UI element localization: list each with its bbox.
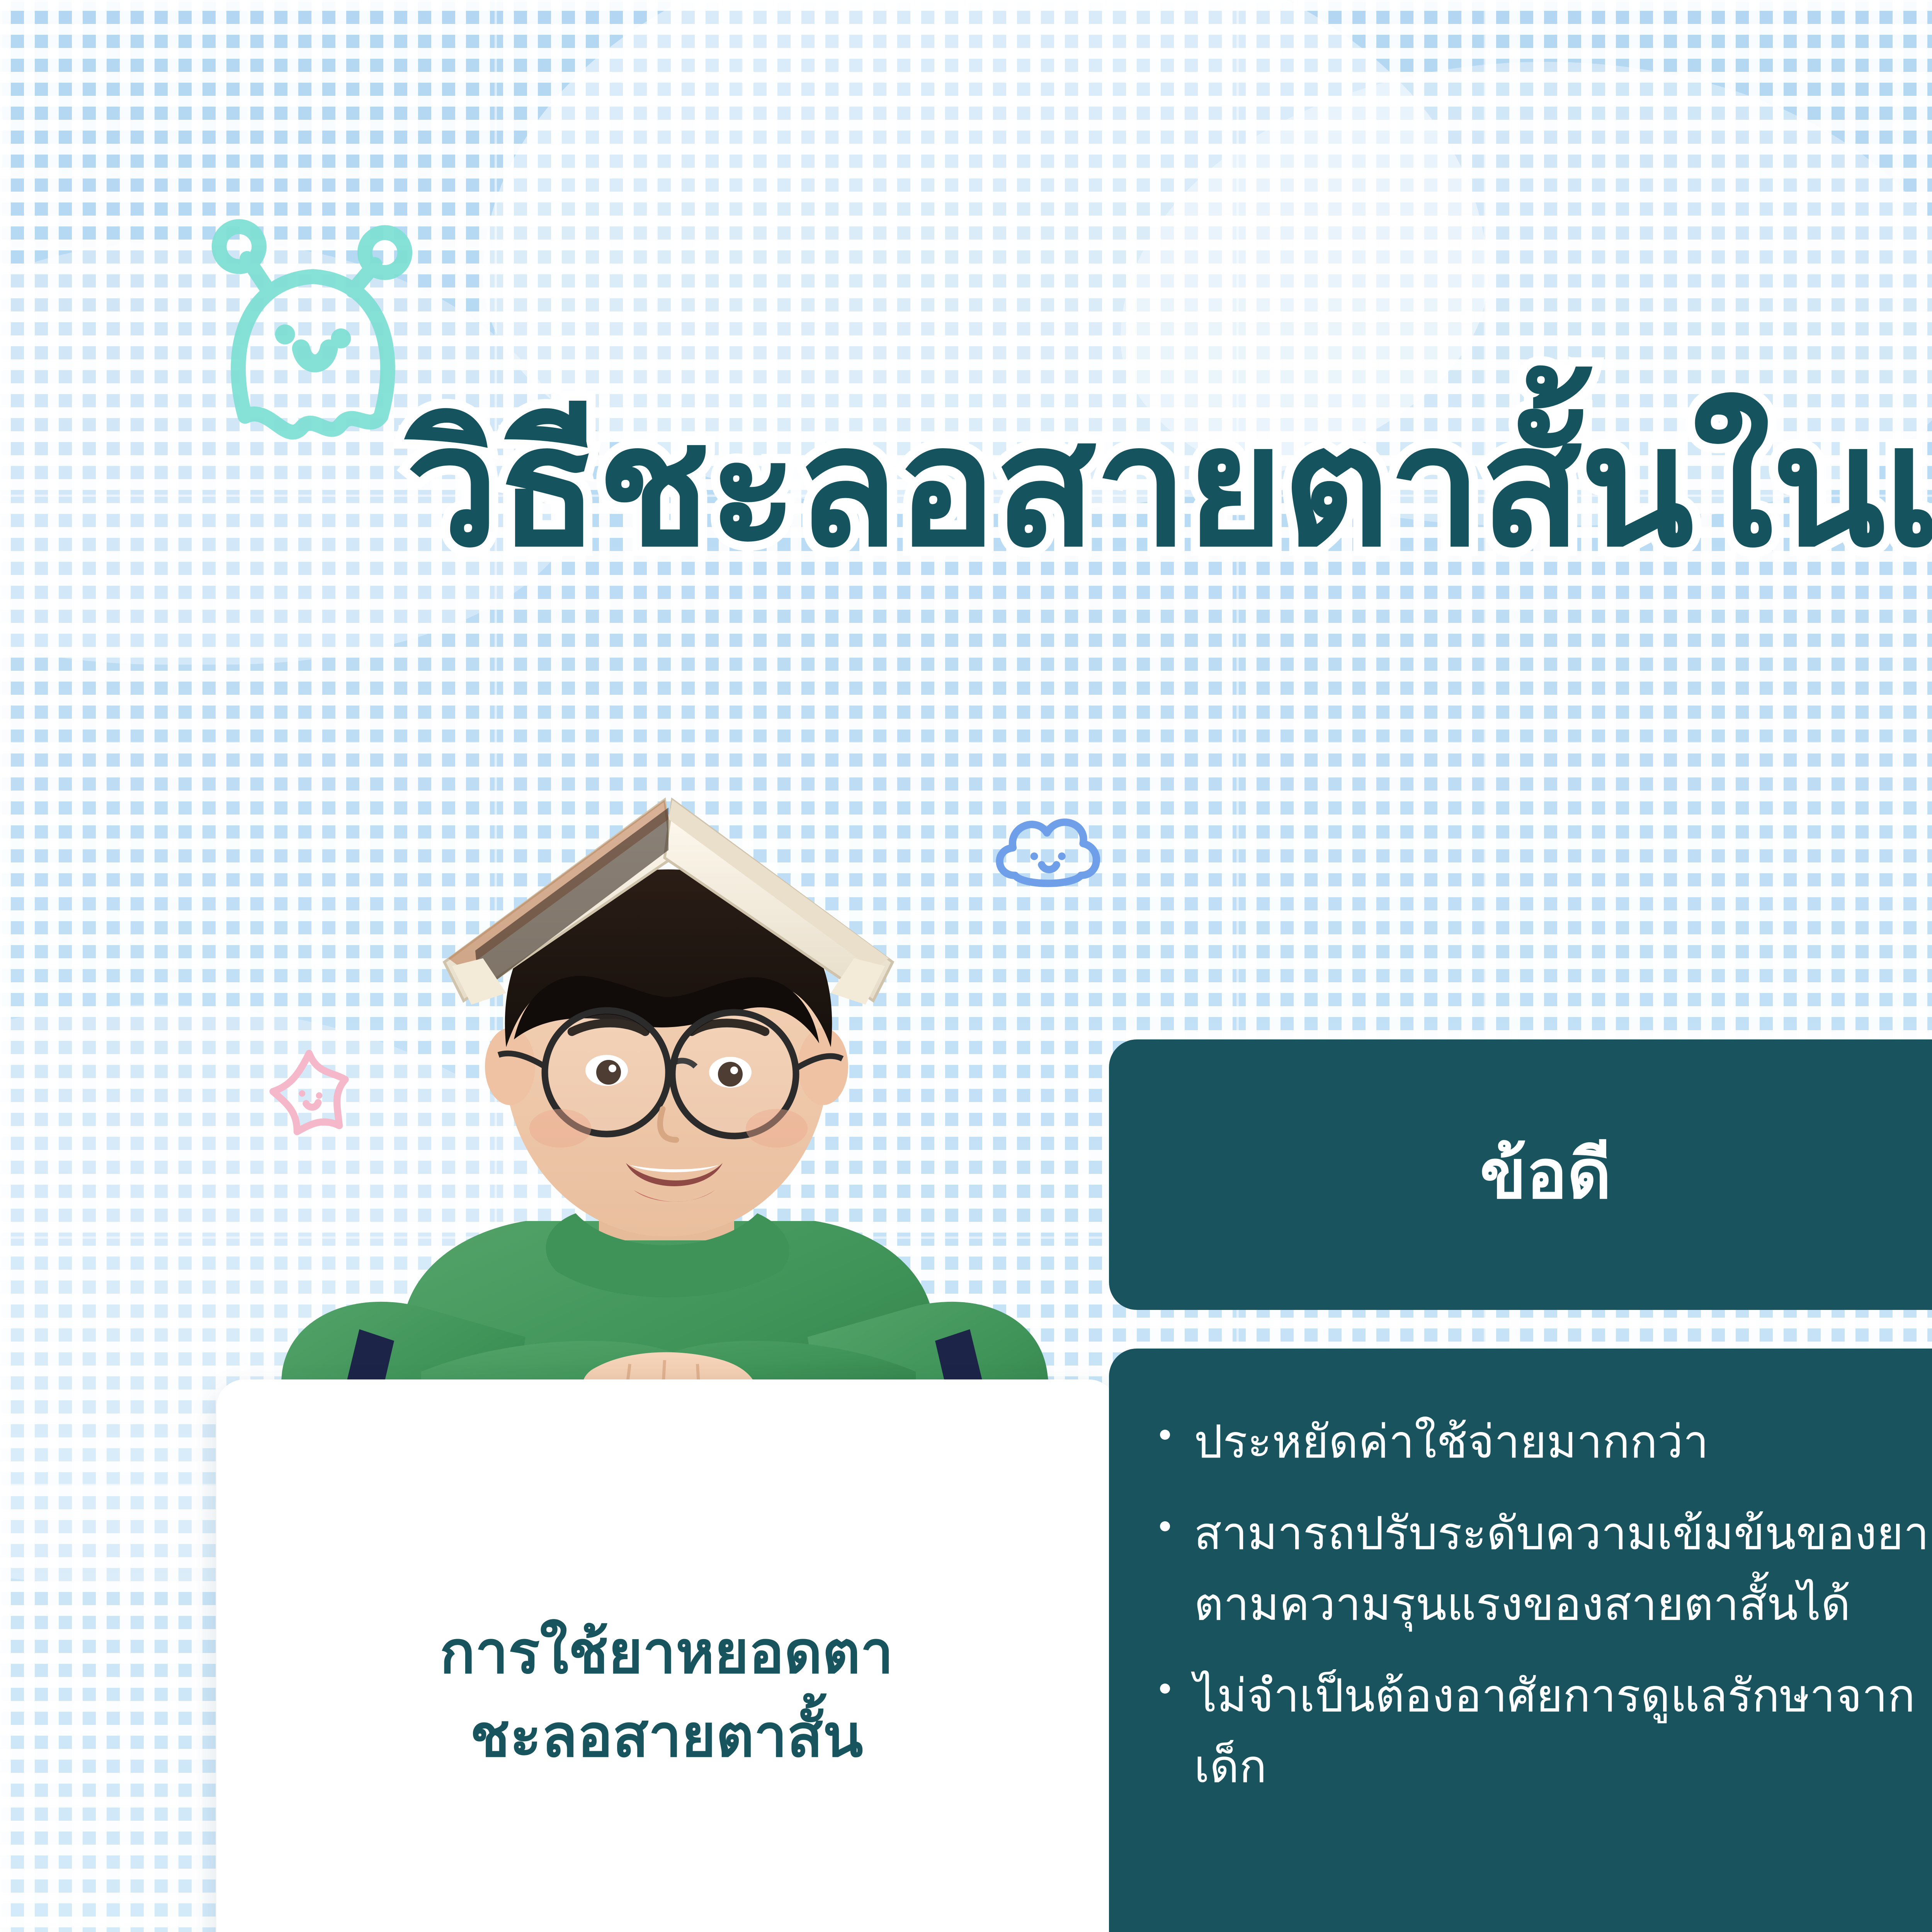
page-title: วิธีชะลอสายตาสั้นในเด็ก: [406, 394, 1932, 580]
column-header-pros-label: ข้อดี: [1480, 1141, 1611, 1209]
pros-list-row-1: ประหยัดค่าใช้จ่ายมากกว่า สามารถปรับระดับ…: [1151, 1406, 1932, 1801]
row-label-1-line2: ชะลอสายตาสั้น: [470, 1702, 863, 1770]
row-label-card-1: การใช้ยาหยอดตา ชะลอสายตาสั้น: [216, 1379, 1117, 1932]
list-item: สามารถปรับระดับความเข้มข้นของยาตามความรุ…: [1151, 1498, 1932, 1639]
list-item: ไม่จำเป็นต้องอาศัยการดูแลรักษาจากเด็ก: [1151, 1660, 1932, 1802]
column-header-pros: ข้อดี: [1109, 1039, 1932, 1310]
row-label-1-line1: การใช้ยาหยอดตา: [440, 1618, 893, 1687]
list-item: ประหยัดค่าใช้จ่ายมากกว่า: [1151, 1406, 1932, 1477]
page-title-wrap: วิธีชะลอสายตาสั้นในเด็ก: [0, 394, 1932, 580]
infographic-canvas: 9 Praram 9 Hospital วิธีชะลอสายตาสั้นในเ…: [0, 0, 1932, 1932]
child-with-book-photo: [216, 757, 1117, 1457]
pros-card-row-1: ประหยัดค่าใช้จ่ายมากกว่า สามารถปรับระดับ…: [1109, 1349, 1932, 1932]
